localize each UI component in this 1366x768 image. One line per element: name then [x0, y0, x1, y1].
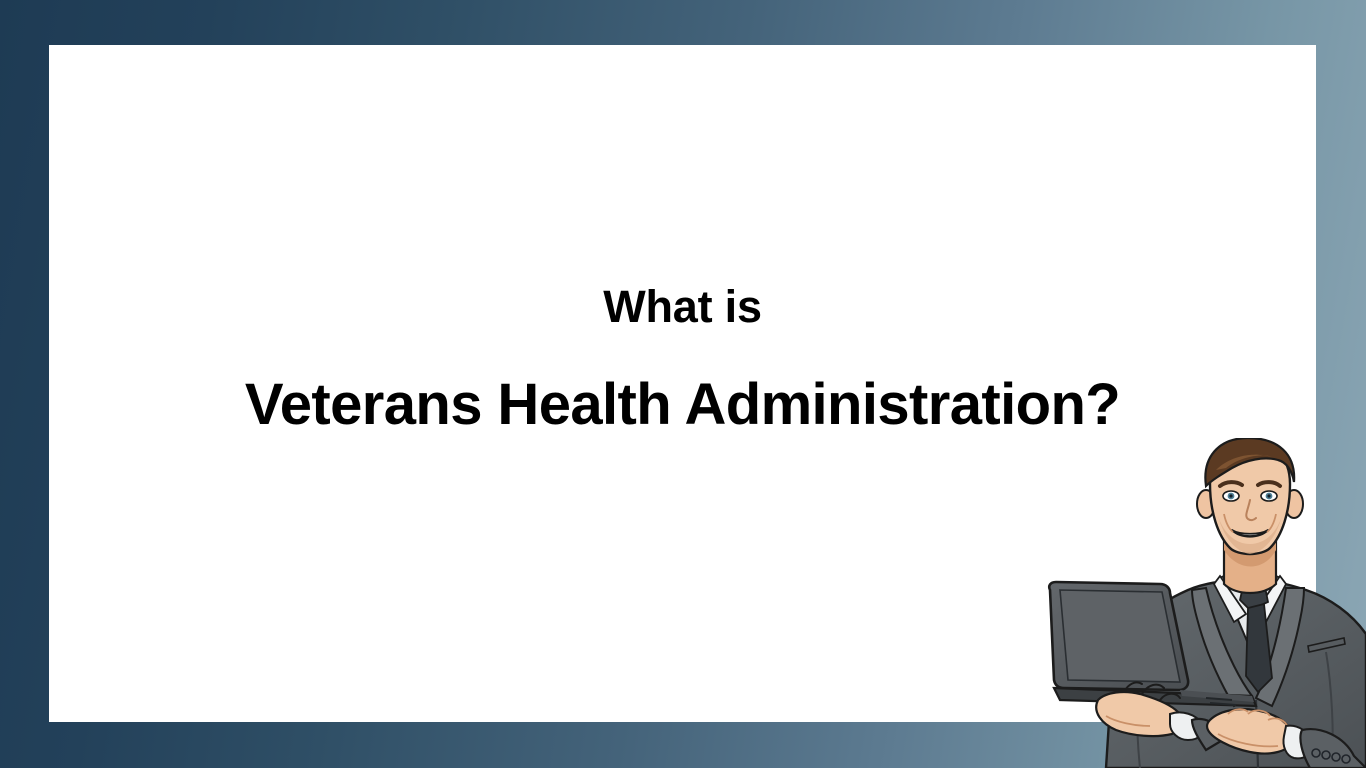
page-title: What is Veterans Health Administration?	[49, 281, 1316, 438]
title-line-2: Veterans Health Administration?	[49, 373, 1316, 438]
content-card: What is Veterans Health Administration?	[49, 45, 1316, 722]
slide-root: What is Veterans Health Administration?	[0, 0, 1366, 768]
title-line-1: What is	[49, 281, 1316, 333]
